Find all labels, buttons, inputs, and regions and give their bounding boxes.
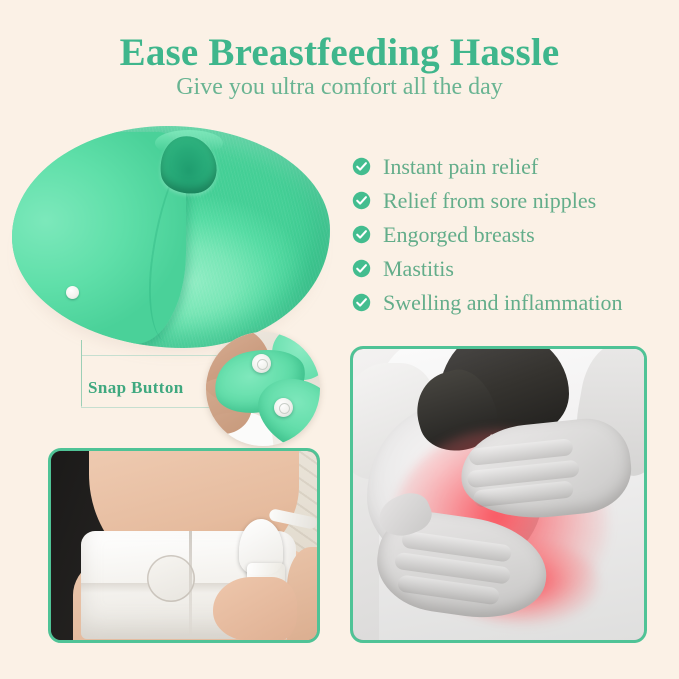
model-hand [213,577,297,641]
benefit-label: Mastitis [383,258,454,280]
check-circle-icon [352,293,371,312]
breast-pain-relief-photo [350,346,647,643]
nursing-top-seam [189,531,192,637]
benefit-item: Instant pain relief [352,150,672,183]
nursing-top-opening [147,555,195,602]
page-subtitle: Give you ultra comfort all the day [0,74,679,101]
benefit-label: Instant pain relief [383,156,538,178]
benefit-item: Engorged breasts [352,218,672,251]
snap-button-on-product [66,286,79,299]
check-circle-icon [352,259,371,278]
snap-button-upper [252,354,271,373]
page-title: Ease Breastfeeding Hassle [0,30,679,75]
benefit-label: Swelling and inflammation [383,292,623,314]
benefits-list: Instant pain relief Relief from sore nip… [352,150,672,320]
check-circle-icon [352,191,371,210]
check-circle-icon [352,225,371,244]
benefit-label: Engorged breasts [383,224,535,246]
check-circle-icon [352,157,371,176]
benefit-item: Swelling and inflammation [352,286,672,319]
snap-button-leader-line [81,340,82,406]
infographic-canvas: Ease Breastfeeding Hassle Give you ultra… [0,0,679,679]
breast-pad-body [12,126,330,348]
snap-button-zoom-inset [206,332,320,446]
benefit-item: Relief from sore nipples [352,184,672,217]
breast-pump-usage-photo [48,448,320,643]
benefit-item: Mastitis [352,252,672,285]
snap-button-lower [274,398,293,417]
product-image [0,118,345,363]
benefit-label: Relief from sore nipples [383,190,596,212]
